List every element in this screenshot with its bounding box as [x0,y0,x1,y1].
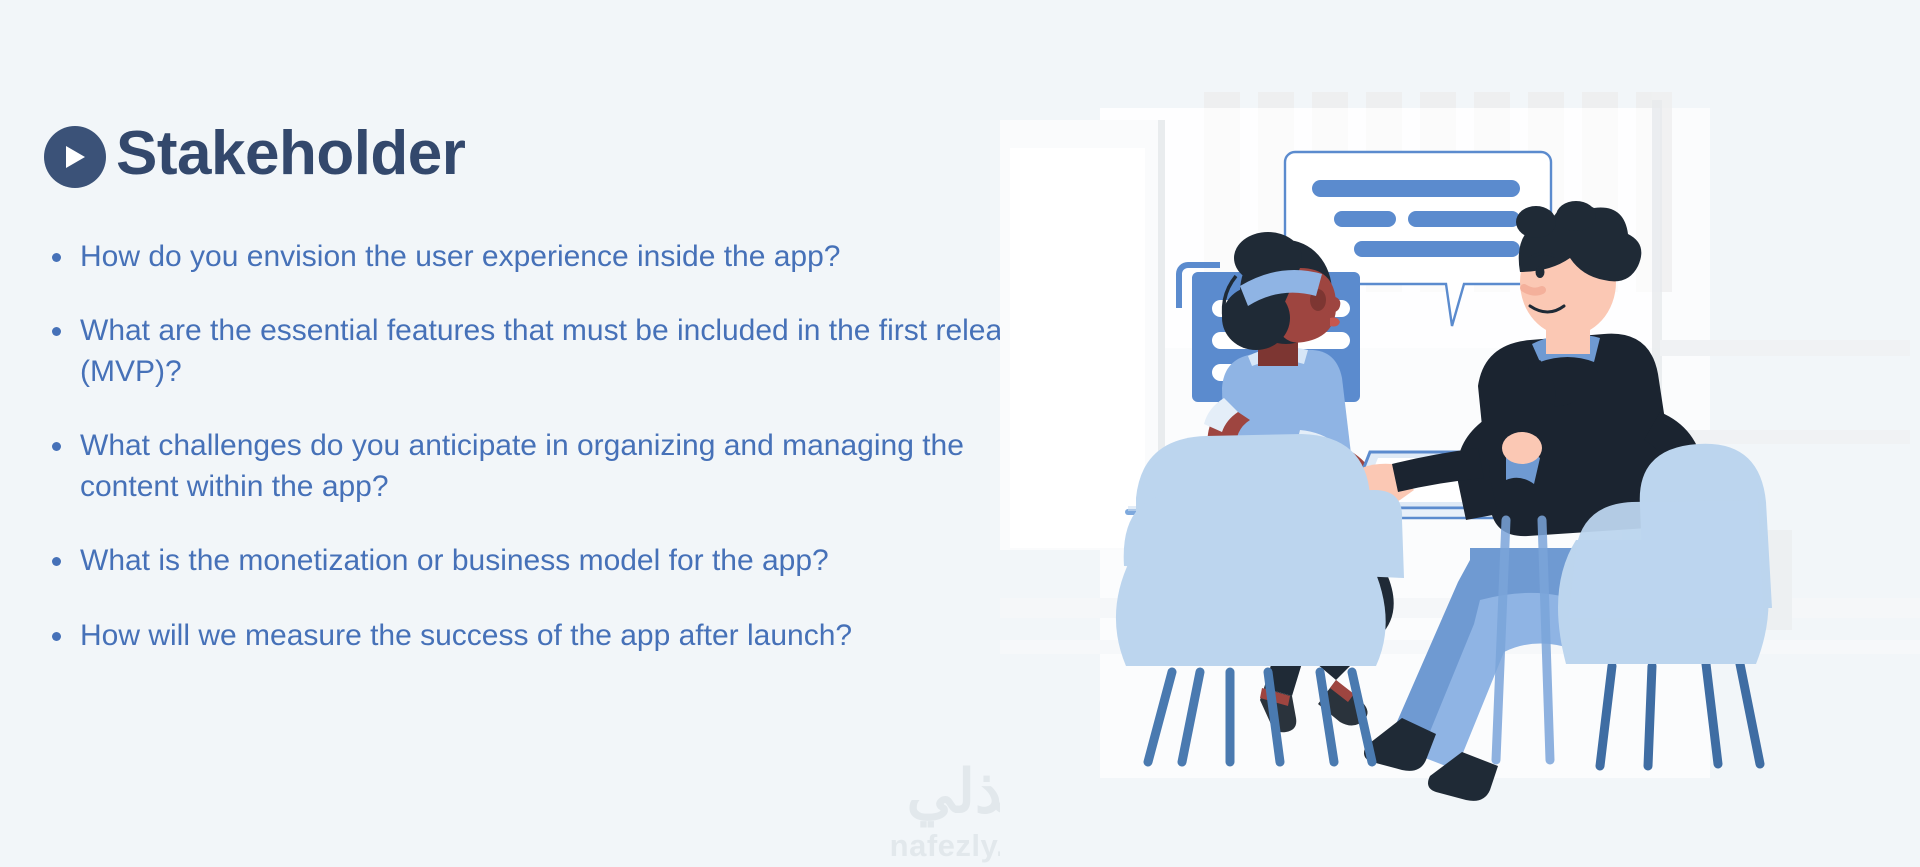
list-item: What is the monetization or business mod… [44,540,1040,581]
list-item-text: How do you envision the user experience … [80,240,841,273]
bullet-dot-icon [52,442,61,451]
title-row: Stakeholder [44,120,1074,188]
list-item-text: How will we measure the success of the a… [80,619,852,652]
bullet-dot-icon [52,253,61,262]
play-circle-icon [44,126,106,188]
list-item-text: What is the monetization or business mod… [80,544,829,577]
bullet-dot-icon [52,632,61,641]
meeting-illustration [1000,0,1920,867]
list-item: What are the essential features that mus… [44,310,1040,392]
list-item-text: What challenges do you anticipate in org… [80,429,964,503]
slide-root: Stakeholder How do you envision the user… [0,0,1920,867]
list-item: How will we measure the success of the a… [44,615,1040,656]
content-column: Stakeholder How do you envision the user… [44,120,1074,656]
list-item: How do you envision the user experience … [44,236,1040,277]
bullet-dot-icon [52,557,61,566]
list-item-text: What are the essential features that mus… [80,314,1034,388]
bullet-dot-icon [52,327,61,336]
page-title: Stakeholder [116,123,465,185]
list-item: What challenges do you anticipate in org… [44,425,1040,507]
question-list: How do you envision the user experience … [44,236,1074,656]
